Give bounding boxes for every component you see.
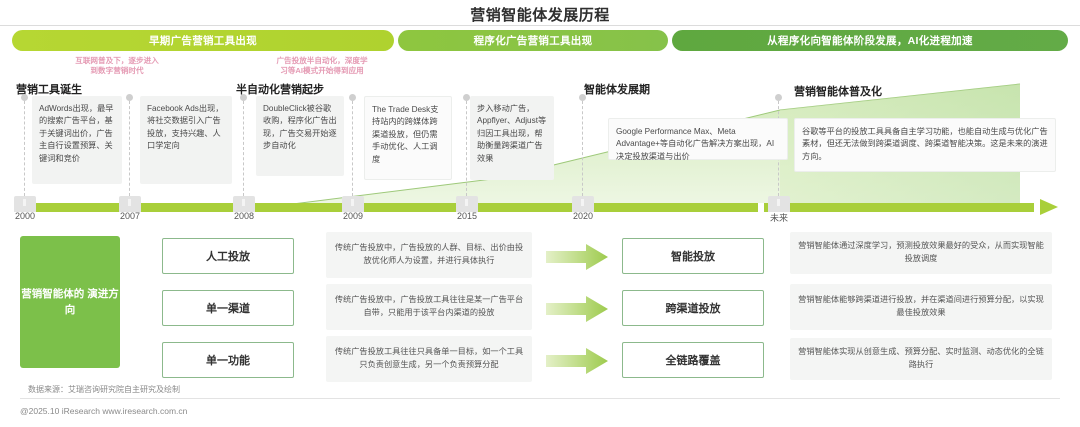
stage-bar: 早期广告营销工具出现 程序化广告营销工具出现 从程序化向智能体阶段发展，AI化进… <box>12 30 1068 51</box>
timeline-card-doubleclick[interactable]: DoubleClick被谷歌收购，程序化广告出现，广告交易开始逐步自动化 <box>256 96 344 176</box>
page-title: 营销智能体发展历程 <box>0 4 1080 25</box>
timeline-stem <box>352 101 353 196</box>
axis-track <box>18 203 1034 212</box>
timeline-label-2000: 2000 <box>2 211 48 221</box>
old-desc-manual-delivery: 传统广告投放中，广告投放的人群、目标、出价由投放优化师人为设置，并进行具体执行 <box>326 232 532 278</box>
timeline-label-2015: 2015 <box>444 211 490 221</box>
timeline-stem <box>582 101 583 196</box>
stage-early-tools[interactable]: 早期广告营销工具出现 <box>12 30 394 51</box>
timeline-label-2020: 2020 <box>560 211 606 221</box>
old-capability-single-channel[interactable]: 单一渠道 <box>162 290 294 326</box>
timeline-dot <box>349 94 356 101</box>
new-capability-cross-channel[interactable]: 跨渠道投放 <box>622 290 764 326</box>
timeline-label-future: 未来 <box>756 211 802 224</box>
timeline-dot <box>240 94 247 101</box>
timeline-card-pmax-advantage[interactable]: Google Performance Max、Meta Advantage+等自… <box>608 118 788 160</box>
timeline-dot <box>126 94 133 101</box>
new-desc-full-funnel: 营销智能体实现从创意生成、预算分配、实时监测、动态优化的全链路执行 <box>790 338 1052 380</box>
timeline-tick <box>768 196 790 212</box>
old-capability-manual-delivery[interactable]: 人工投放 <box>162 238 294 274</box>
stage-programmatic[interactable]: 程序化广告营销工具出现 <box>398 30 668 51</box>
timeline-card-mobile-attribution[interactable]: 步入移动广告，Appflyer、Adjust等归因工具出现，帮助衡量跨渠道广告效… <box>470 96 554 180</box>
timeline-tick <box>233 196 255 212</box>
copyright-note: @2025.10 iResearch www.iresearch.com.cn <box>20 406 187 416</box>
timeline-card-trade-desk[interactable]: The Trade Desk支持站内的跨媒体跨渠道投放，但仍需手动优化、人工调度 <box>364 96 452 180</box>
timeline-label-2008: 2008 <box>221 211 267 221</box>
timeline-card-adwords[interactable]: AdWords出现，最早的搜索广告平台，基于关键词出价，广告主自行设置预算、关键… <box>32 96 122 184</box>
timeline-dot <box>463 94 470 101</box>
timeline-stem <box>24 101 25 196</box>
timeline-tick <box>342 196 364 212</box>
old-desc-single-function: 传统广告投放工具往往只具备单一目标，如一个工具只负责创意生成，另一个负责预算分配 <box>326 336 532 382</box>
timeline-axis <box>18 203 1058 212</box>
new-desc-smart-delivery: 营销智能体通过深度学习，预测投放效果最好的受众，从而实现智能投放调度 <box>790 232 1052 274</box>
evolution-direction-heading: 营销智能体的 演进方向 <box>20 236 120 368</box>
timeline-stem <box>466 101 467 196</box>
axis-arrow-icon <box>1040 199 1058 215</box>
transform-arrow-icon <box>546 348 608 374</box>
infographic-root: 营销智能体发展历程 早期广告营销工具出现 程序化广告营销工具出现 从程序化向智能… <box>0 0 1080 427</box>
timeline-card-future-outlook[interactable]: 谷歌等平台的投放工具具备自主学习功能，也能自动生成与优化广告素材，但还无法做到跨… <box>794 118 1056 172</box>
timeline-stem <box>243 101 244 196</box>
timeline-card-facebook-ads[interactable]: Facebook Ads出现，将社交数据引入广告投放，支持兴趣、人口学定向 <box>140 96 232 184</box>
data-source-note: 数据来源：艾瑞咨询研究院自主研究及绘制 <box>28 384 180 395</box>
timeline-dot <box>21 94 28 101</box>
new-capability-full-funnel[interactable]: 全链路覆盖 <box>622 342 764 378</box>
stage-agentic-ai[interactable]: 从程序化向智能体阶段发展，AI化进程加速 <box>672 30 1068 51</box>
transform-arrow-icon <box>546 296 608 322</box>
timeline-label-2007: 2007 <box>107 211 153 221</box>
old-capability-single-function[interactable]: 单一功能 <box>162 342 294 378</box>
new-desc-cross-channel: 营销智能体能够跨渠道进行投放，并在渠道间进行预算分配，以实现最佳投放效果 <box>790 284 1052 330</box>
transform-arrow-icon <box>546 244 608 270</box>
footer-divider <box>20 398 1060 399</box>
title-divider <box>0 25 1080 26</box>
timeline-label-2009: 2009 <box>330 211 376 221</box>
timeline-tick <box>14 196 36 212</box>
timeline-tick <box>456 196 478 212</box>
timeline-tick <box>119 196 141 212</box>
timeline-dot <box>579 94 586 101</box>
timeline-tick <box>572 196 594 212</box>
timeline-dot <box>775 94 782 101</box>
new-capability-smart-delivery[interactable]: 智能投放 <box>622 238 764 274</box>
old-desc-single-channel: 传统广告投放中，广告投放工具往往是某一广告平台自带，只能用于该平台内渠道的投放 <box>326 284 532 330</box>
timeline-stem <box>129 101 130 196</box>
